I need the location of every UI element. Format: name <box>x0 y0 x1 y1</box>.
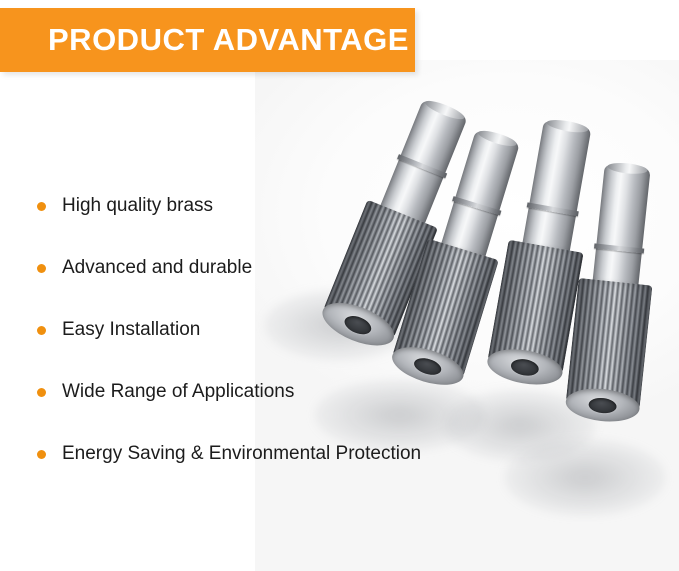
bullet-dot-icon <box>37 202 46 211</box>
advantage-item-wide-range-of-applications: Wide Range of Applications <box>0 361 470 423</box>
advantage-label: Advanced and durable <box>62 257 252 279</box>
advantage-item-energy-saving: Energy Saving & Environmental Protection <box>0 423 470 485</box>
advantage-list: High quality brass Advanced and durable … <box>0 175 470 485</box>
advantage-item-advanced-and-durable: Advanced and durable <box>0 237 470 299</box>
advantage-item-easy-installation: Easy Installation <box>0 299 470 361</box>
advantage-label: Wide Range of Applications <box>62 381 294 403</box>
advantage-label: Easy Installation <box>62 319 200 341</box>
product-advantage-infographic: PRODUCT ADVANTAGE High quality brass Adv… <box>0 0 679 571</box>
bullet-dot-icon <box>37 388 46 397</box>
advantage-item-high-quality-brass: High quality brass <box>0 175 470 237</box>
nozzle-shaft <box>593 164 651 286</box>
product-shadow <box>505 440 665 515</box>
advantage-label: Energy Saving & Environmental Protection <box>62 443 421 465</box>
advantage-label: High quality brass <box>62 195 213 217</box>
header-banner: PRODUCT ADVANTAGE <box>0 8 415 72</box>
bullet-dot-icon <box>37 264 46 273</box>
page-title: PRODUCT ADVANTAGE <box>48 22 409 58</box>
bullet-dot-icon <box>37 450 46 459</box>
bullet-dot-icon <box>37 326 46 335</box>
